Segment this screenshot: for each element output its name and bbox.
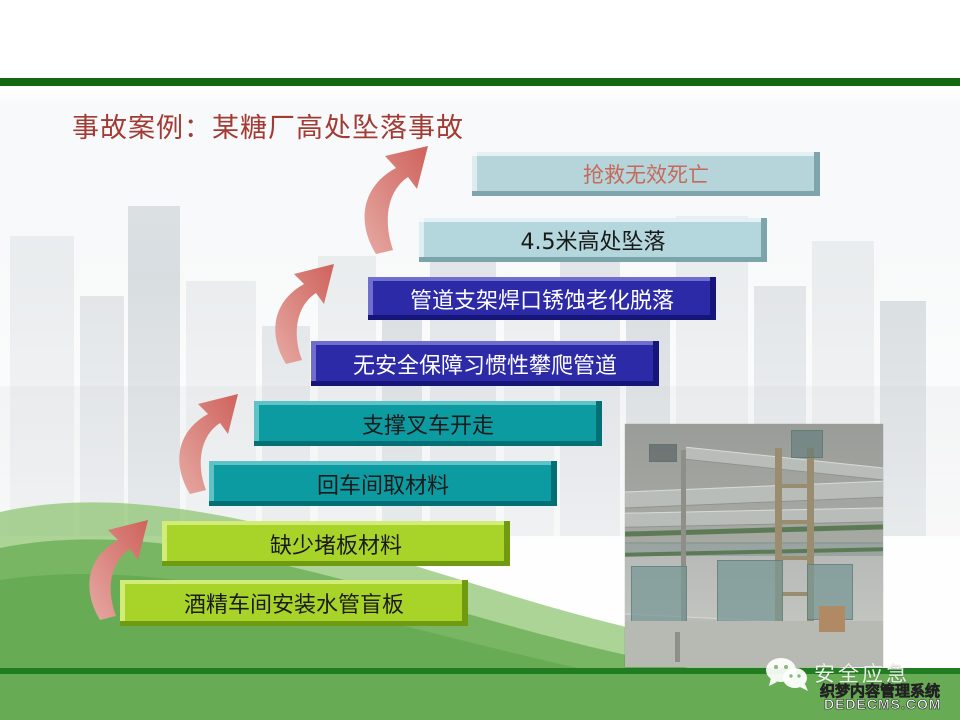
flow-step-8-box[interactable]: 抢救无效死亡 (472, 152, 820, 196)
flow-step-7-box[interactable]: 4.5米高处坠落 (419, 218, 767, 262)
flow-step-8-label: 抢救无效死亡 (583, 159, 709, 189)
flow-step-7-label: 4.5米高处坠落 (521, 224, 666, 256)
flow-step-1-label: 酒精车间安装水管盲板 (184, 587, 404, 619)
page-title: 事故案例：某糖厂高处坠落事故 (72, 106, 464, 145)
flow-step-3-box[interactable]: 回车间取材料 (209, 461, 557, 506)
flow-step-5-box[interactable]: 无安全保障习惯性攀爬管道 (311, 341, 659, 386)
flow-step-4-label: 支撑叉车开走 (362, 408, 494, 440)
flow-step-4-box[interactable]: 支撑叉车开走 (254, 401, 602, 446)
flow-step-1-box[interactable]: 酒精车间安装水管盲板 (120, 580, 468, 626)
watermark-cms-url: DEDECMS.COM (824, 696, 942, 712)
accident-site-photo (625, 424, 883, 667)
header-green-rule (0, 78, 960, 86)
under-rule-fade (0, 86, 960, 102)
flow-step-5-label: 无安全保障习惯性攀爬管道 (353, 348, 617, 380)
top-white-band (0, 0, 960, 78)
flow-step-2-box[interactable]: 缺少堵板材料 (162, 521, 510, 566)
flow-step-6-box[interactable]: 管道支架焊口锈蚀老化脱落 (368, 277, 716, 320)
watermark: 安全应急 织梦内容管理系统 DEDECMS.COM (758, 650, 948, 712)
flow-step-3-label: 回车间取材料 (317, 468, 449, 500)
flow-step-6-label: 管道支架焊口锈蚀老化脱落 (410, 283, 674, 315)
flow-step-2-label: 缺少堵板材料 (270, 528, 402, 560)
wechat-icon (764, 656, 810, 692)
slide-canvas: 事故案例：某糖厂高处坠落事故 (0, 0, 960, 720)
